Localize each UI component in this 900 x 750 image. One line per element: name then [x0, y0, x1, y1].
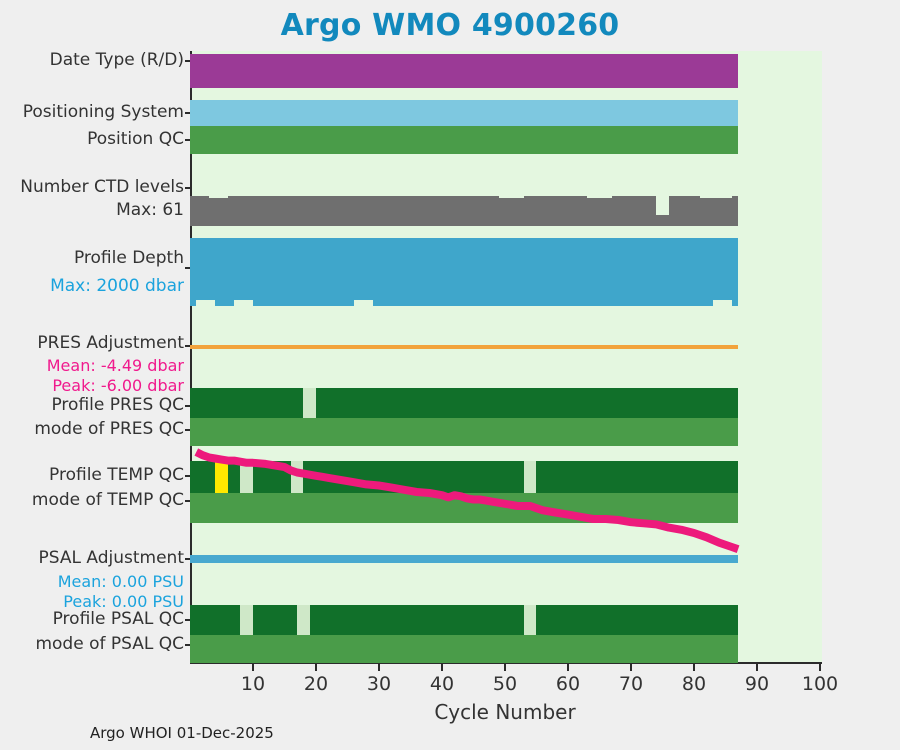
x-tick-label-20: 20	[286, 673, 346, 695]
footer-credit: Argo WHOI 01-Dec-2025	[90, 724, 274, 742]
shallow-profile-depth	[713, 300, 732, 306]
row-label-mode-of-pres-qc: mode of PRES QC	[0, 420, 184, 438]
x-tick-50	[504, 662, 506, 671]
x-tick-80	[693, 662, 695, 671]
gap-profile-temp-qc	[291, 461, 304, 493]
band-mode-of-psal-qc	[190, 635, 738, 663]
row-label-profile-depth: Profile Depth	[0, 249, 184, 267]
x-tick-label-70: 70	[601, 673, 661, 695]
flag-yellow-profile-temp-qc	[215, 461, 228, 493]
dip-number-ctd-levels	[719, 196, 732, 198]
x-tick-label-80: 80	[664, 673, 724, 695]
row-label-mode-of-temp-qc: mode of TEMP QC	[0, 491, 184, 509]
band-mode-of-temp-qc	[190, 493, 738, 523]
dip-number-ctd-levels	[700, 196, 719, 198]
band-profile-temp-qc	[190, 461, 738, 493]
band-date-type-r-d	[190, 54, 738, 88]
row-label-profile-psal-qc: Profile PSAL QC	[0, 610, 184, 628]
gap-profile-temp-qc	[240, 461, 253, 493]
page-title: Argo WMO 4900260	[0, 8, 900, 43]
row-label-position-qc: Position QC	[0, 130, 184, 148]
band-profile-depth	[190, 238, 738, 306]
gap-profile-psal-qc	[240, 605, 253, 635]
line-pres-adjustment	[190, 345, 738, 349]
row-label-number-ctd-levels: Number CTD levels	[0, 178, 184, 196]
row-label-positioning-system: Positioning System	[0, 103, 184, 121]
row-sublabel-pres-mean: Mean: -4.49 dbar	[0, 357, 184, 374]
row-label-date-type: Date Type (R/D)	[0, 51, 184, 69]
x-tick-20	[315, 662, 317, 671]
x-tick-70	[630, 662, 632, 671]
dip-number-ctd-levels	[587, 196, 612, 198]
row-sublabel-depth-max: Max: 2000 dbar	[0, 277, 184, 295]
dip-number-ctd-levels	[656, 196, 669, 215]
y-tick-number-ctd-levels	[185, 187, 192, 189]
dip-number-ctd-levels	[499, 196, 524, 198]
shallow-profile-depth	[234, 300, 253, 306]
shallow-profile-depth	[196, 300, 215, 306]
x-tick-label-100: 100	[790, 673, 850, 695]
x-axis-label: Cycle Number	[190, 700, 820, 724]
gap-profile-psal-qc	[524, 605, 537, 635]
x-tick-30	[378, 662, 380, 671]
x-tick-100	[819, 662, 821, 671]
row-label-psal-adjustment: PSAL Adjustment	[0, 549, 184, 567]
band-position-qc	[190, 126, 738, 154]
row-label-profile-temp-qc: Profile TEMP QC	[0, 466, 184, 484]
row-sublabel-pres-peak: Peak: -6.00 dbar	[0, 377, 184, 394]
band-positioning-system	[190, 100, 738, 126]
row-label-profile-pres-qc: Profile PRES QC	[0, 396, 184, 414]
x-tick-40	[441, 662, 443, 671]
x-tick-label-90: 90	[727, 673, 787, 695]
band-profile-psal-qc	[190, 605, 738, 635]
row-sublabel-psal-peak: Peak: 0.00 PSU	[0, 593, 184, 610]
x-tick-60	[567, 662, 569, 671]
x-tick-90	[756, 662, 758, 671]
row-label-pres-adjustment: PRES Adjustment	[0, 334, 184, 352]
x-tick-label-60: 60	[538, 673, 598, 695]
line-psal-adjustment	[190, 555, 738, 563]
dip-number-ctd-levels	[209, 196, 228, 198]
gap-profile-pres-qc	[303, 388, 316, 418]
x-tick-label-40: 40	[412, 673, 472, 695]
band-mode-of-pres-qc	[190, 418, 738, 446]
x-tick-label-50: 50	[475, 673, 535, 695]
band-profile-pres-qc	[190, 388, 738, 418]
row-sublabel-psal-mean: Mean: 0.00 PSU	[0, 573, 184, 590]
gap-profile-temp-qc	[524, 461, 537, 493]
x-tick-label-10: 10	[223, 673, 283, 695]
row-label-mode-of-psal-qc: mode of PSAL QC	[0, 635, 184, 653]
x-tick-10	[252, 662, 254, 671]
row-sublabel-ctd-max: Max: 61	[0, 201, 184, 219]
shallow-profile-depth	[354, 300, 373, 306]
x-tick-label-30: 30	[349, 673, 409, 695]
gap-profile-psal-qc	[297, 605, 310, 635]
